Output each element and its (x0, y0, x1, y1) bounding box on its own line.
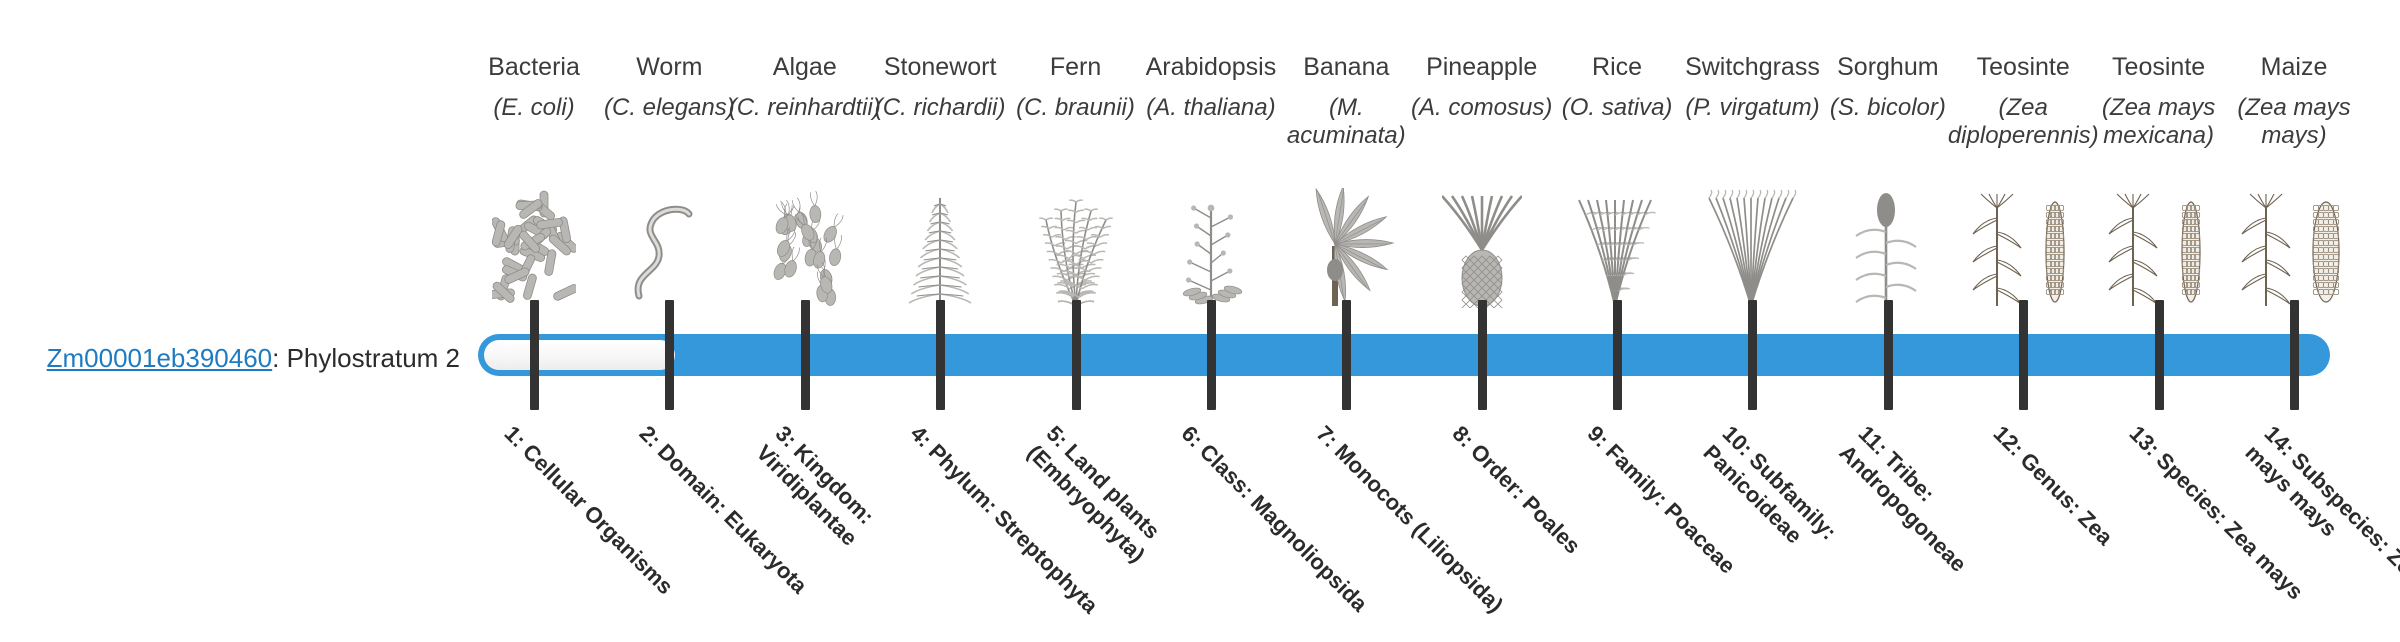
phylostratum-name: Order: Poales (1465, 439, 1585, 559)
phylostratum-timeline: Zm00001eb390460: Phylostratum 2 Bacteria… (0, 0, 2400, 580)
fern-icon (998, 168, 1154, 308)
species-column-14: Maize(Zea mays mays) (2216, 52, 2372, 150)
gene-id-link[interactable]: Zm00001eb390460 (47, 343, 273, 373)
species-scientific-name: (P. virgatum) (1674, 94, 1830, 122)
species-column-12: Teosinte(Zea diploperennis) (1945, 52, 2101, 150)
species-column-8: Pineapple(A. comosus) (1404, 52, 1560, 122)
species-scientific-name: (A. thaliana) (1133, 94, 1289, 122)
species-common-name: Teosinte (1945, 52, 2101, 82)
phylostratum-tick-11[interactable] (1884, 300, 1893, 410)
species-column-9: Rice(O. sativa) (1539, 52, 1695, 122)
stonewort-icon (862, 168, 1018, 308)
teosinte-diploperennis-icon (1945, 168, 2101, 308)
species-common-name: Stonewort (862, 52, 1018, 82)
species-common-name: Arabidopsis (1133, 52, 1289, 82)
species-common-name: Switchgrass (1674, 52, 1830, 82)
species-common-name: Teosinte (2081, 52, 2237, 82)
species-common-name: Pineapple (1404, 52, 1560, 82)
species-common-name: Sorghum (1810, 52, 1966, 82)
phylostratum-tick-6[interactable] (1207, 300, 1216, 410)
phylostratum-tick-7[interactable] (1342, 300, 1351, 410)
phylostratum-number: 13: (2124, 421, 2164, 461)
arabidopsis-icon (1133, 168, 1289, 308)
banana-icon (1268, 168, 1424, 308)
species-scientific-name: (C. elegans) (591, 94, 747, 122)
phylostratum-name: Genus: Zea (2016, 448, 2118, 550)
sorghum-icon (1810, 168, 1966, 308)
species-common-name: Fern (998, 52, 1154, 82)
species-column-11: Sorghum(S. bicolor) (1810, 52, 1966, 122)
species-scientific-name: (Zea mays mays) (2216, 94, 2372, 150)
phylostratum-number: 12: (1989, 421, 2029, 461)
maize-icon (2216, 168, 2372, 308)
species-common-name: Banana (1268, 52, 1424, 82)
phylostratum-name: Cellular Organisms (518, 439, 678, 599)
switchgrass-icon (1674, 168, 1830, 308)
species-scientific-name: (C. reinhardtii) (727, 94, 883, 122)
phylostratum-tick-13[interactable] (2155, 300, 2164, 410)
species-scientific-name: (M. acuminata) (1268, 94, 1424, 150)
species-common-name: Maize (2216, 52, 2372, 82)
worm-icon (591, 168, 747, 308)
species-column-6: Arabidopsis(A. thaliana) (1133, 52, 1289, 122)
species-column-2: Worm(C. elegans) (591, 52, 747, 122)
phylostratum-tick-8[interactable] (1478, 300, 1487, 410)
phylostratum-tick-10[interactable] (1748, 300, 1757, 410)
phylostratum-tick-4[interactable] (936, 300, 945, 410)
algae-icon (727, 168, 883, 308)
phylostratum-name: Subfamily: Panicoideae (1699, 440, 1842, 548)
pineapple-icon (1404, 168, 1560, 308)
phylostratum-value-text: Phylostratum 2 (287, 343, 460, 373)
species-column-1: Bacteria(E. coli) (456, 52, 612, 122)
species-scientific-name: (A. comosus) (1404, 94, 1560, 122)
species-scientific-name: (C. richardii) (862, 94, 1018, 122)
phylostratum-tick-12[interactable] (2019, 300, 2028, 410)
species-scientific-name: (Zea diploperennis) (1945, 94, 2101, 150)
species-common-name: Rice (1539, 52, 1695, 82)
phylostratum-tick-2[interactable] (665, 300, 674, 410)
gene-phylostratum-label: Zm00001eb390460: Phylostratum 2 (40, 343, 460, 374)
phylostratum-name: Kingdom: Viridiplantae (751, 439, 879, 551)
phylostratum-bar-track[interactable] (478, 334, 2330, 376)
species-common-name: Algae (727, 52, 883, 82)
species-scientific-name: (O. sativa) (1539, 94, 1695, 122)
phylostratum-tick-5[interactable] (1072, 300, 1081, 410)
species-column-10: Switchgrass(P. virgatum) (1674, 52, 1830, 122)
phylostratum-bar-fill (484, 340, 675, 370)
species-common-name: Bacteria (456, 52, 612, 82)
species-scientific-name: (E. coli) (456, 94, 612, 122)
species-column-13: Teosinte(Zea mays mexicana) (2081, 52, 2237, 150)
species-scientific-name: (S. bicolor) (1810, 94, 1966, 122)
teosinte-mexicana-icon (2081, 168, 2237, 308)
species-column-3: Algae(C. reinhardtii) (727, 52, 883, 122)
phylostratum-tick-3[interactable] (801, 300, 810, 410)
species-column-5: Fern(C. braunii) (998, 52, 1154, 122)
species-column-7: Banana(M. acuminata) (1268, 52, 1424, 150)
species-scientific-name: (C. braunii) (998, 94, 1154, 122)
phylostratum-tick-9[interactable] (1613, 300, 1622, 410)
species-common-name: Worm (591, 52, 747, 82)
phylostratum-tick-1[interactable] (530, 300, 539, 410)
rice-icon (1539, 168, 1695, 308)
gene-label-separator: : (272, 343, 286, 373)
species-scientific-name: (Zea mays mexicana) (2081, 94, 2237, 150)
bacteria-icon (456, 168, 612, 308)
species-column-4: Stonewort(C. richardii) (862, 52, 1018, 122)
phylostratum-tick-14[interactable] (2290, 300, 2299, 410)
